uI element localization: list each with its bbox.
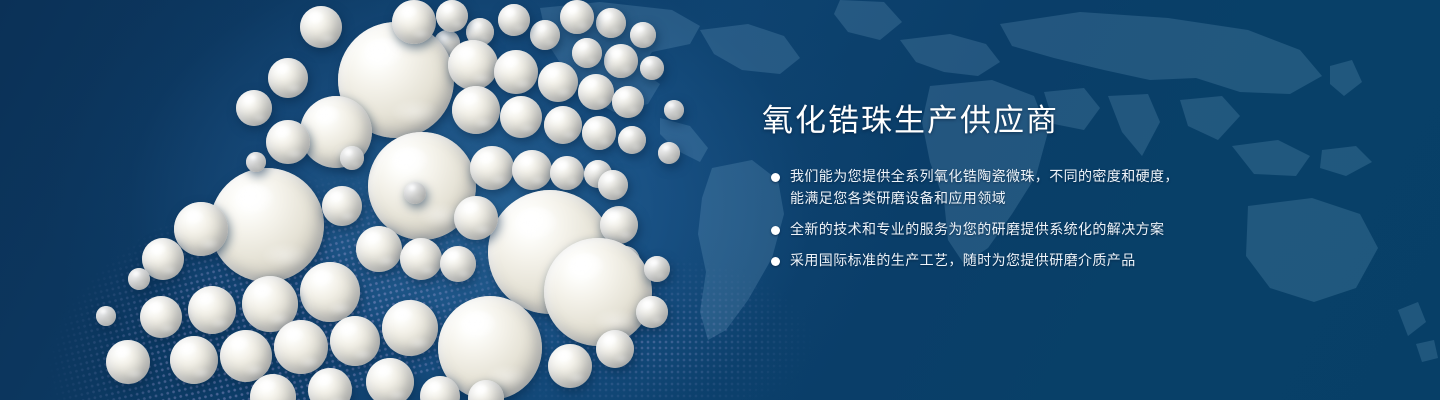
list-item: 我们能为您提供全系列氧化锆陶瓷微珠，不同的密度和硬度， 能满足您各类研磨设备和应… [762,166,1362,210]
list-item-line: 能满足您各类研磨设备和应用领域 [790,188,1362,210]
list-item: 采用国际标准的生产工艺，随时为您提供研磨介质产品 [762,250,1362,272]
list-item-line: 全新的技术和专业的服务为您的研磨提供系统化的解决方案 [790,219,1362,241]
bullet-dot-icon [771,226,780,235]
bullet-dot-icon [771,173,780,182]
list-item-line: 我们能为您提供全系列氧化锆陶瓷微珠，不同的密度和硬度， [790,166,1362,188]
zirconia-beads-photo [0,0,780,400]
halftone-texture-secondary [520,250,940,400]
hero-banner: 氧化锆珠生产供应商 我们能为您提供全系列氧化锆陶瓷微珠，不同的密度和硬度， 能满… [0,0,1440,400]
bullet-dot-icon [771,257,780,266]
list-item: 全新的技术和专业的服务为您的研磨提供系统化的解决方案 [762,219,1362,241]
list-item-line: 采用国际标准的生产工艺，随时为您提供研磨介质产品 [790,250,1362,272]
banner-copy: 氧化锆珠生产供应商 我们能为您提供全系列氧化锆陶瓷微珠，不同的密度和硬度， 能满… [762,104,1362,272]
page-title: 氧化锆珠生产供应商 [762,104,1362,140]
feature-list: 我们能为您提供全系列氧化锆陶瓷微珠，不同的密度和硬度， 能满足您各类研磨设备和应… [762,166,1362,272]
halftone-texture [0,49,646,400]
